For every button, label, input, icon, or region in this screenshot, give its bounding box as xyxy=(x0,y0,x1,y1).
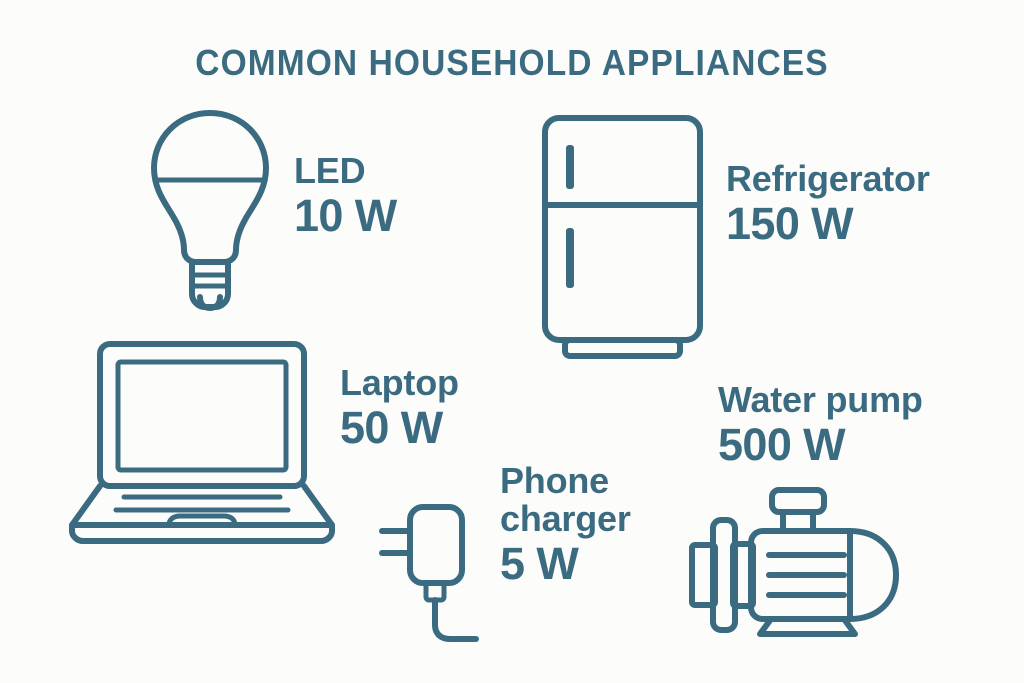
appliance-name-laptop: Laptop xyxy=(340,364,459,402)
label-refrigerator: Refrigerator 150 W xyxy=(726,160,930,248)
refrigerator-icon xyxy=(540,113,715,358)
page-title: COMMON HOUSEHOLD APPLIANCES xyxy=(36,42,988,84)
appliance-name-water-pump: Water pump xyxy=(718,381,923,419)
appliance-name-refrigerator: Refrigerator xyxy=(726,160,930,198)
appliance-power-led: 10 W xyxy=(294,192,397,240)
appliance-name-led: LED xyxy=(294,152,397,190)
label-water-pump: Water pump 500 W xyxy=(718,381,923,469)
light-bulb-icon xyxy=(140,108,280,308)
label-laptop: Laptop 50 W xyxy=(340,364,459,452)
appliance-power-refrigerator: 150 W xyxy=(726,200,930,248)
appliance-name-phone-charger: Phone charger xyxy=(500,462,660,538)
water-pump-icon xyxy=(700,487,930,637)
appliance-power-water-pump: 500 W xyxy=(718,421,923,469)
label-led: LED 10 W xyxy=(294,152,397,240)
appliance-power-laptop: 50 W xyxy=(340,404,459,452)
appliance-power-phone-charger: 5 W xyxy=(500,540,660,588)
infographic-canvas: COMMON HOUSEHOLD APPLIANCES LED 10 W xyxy=(0,0,1024,683)
label-phone-charger: Phone charger 5 W xyxy=(500,462,660,588)
laptop-icon xyxy=(68,340,338,545)
phone-charger-icon xyxy=(378,503,488,643)
